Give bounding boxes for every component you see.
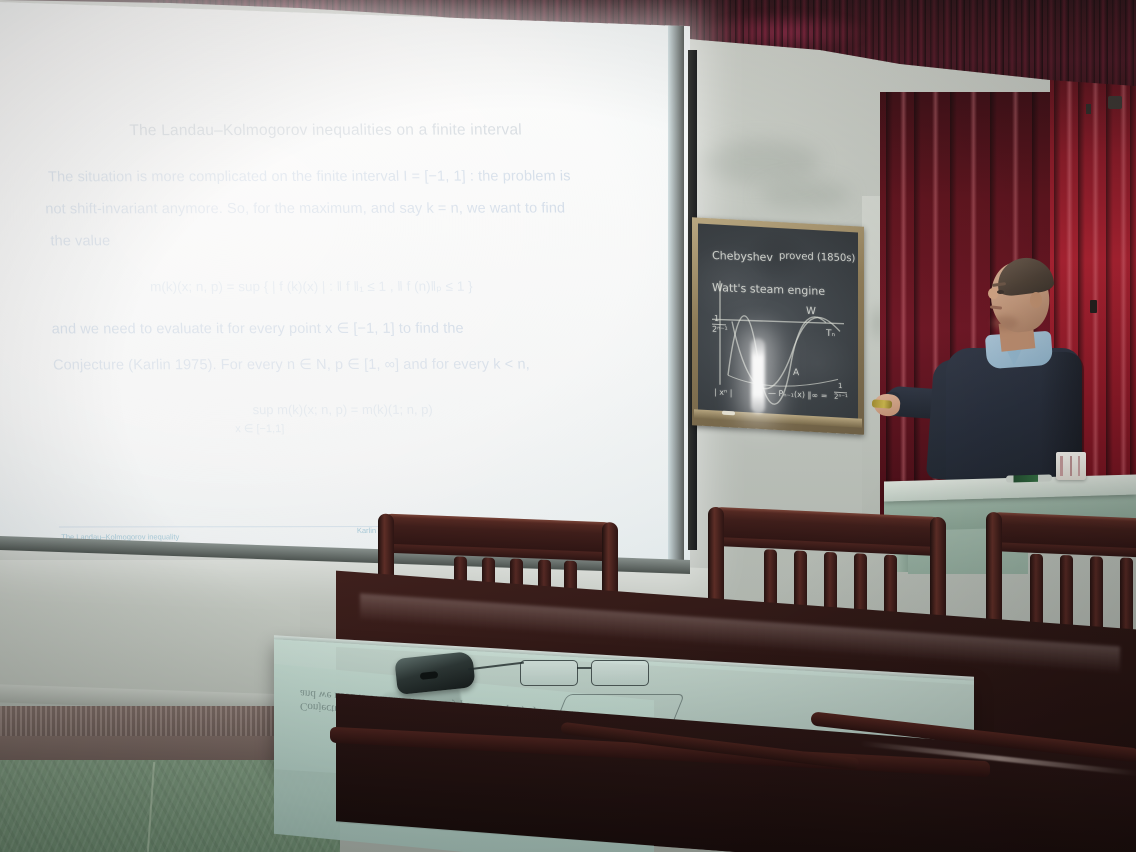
cup-stripe [1078,456,1080,476]
lecture-hall-photo: The Landau–Kolmogorov inequalities on a … [0,0,1136,852]
cup-stripe [1060,456,1063,476]
laser-pointer [872,399,893,408]
speaker-chin-shadow [992,316,1018,330]
eyeglasses-lens-left [520,660,578,686]
cup-stripe [1070,456,1072,476]
chair-spindle [1060,555,1073,631]
speaker-mouth [990,305,1002,309]
chair-spindle [1030,554,1043,630]
eyeglasses-lens-right [591,660,649,686]
speaker-nose [988,288,998,299]
chair-spindle [1120,557,1133,633]
speaker-ear [1030,292,1042,308]
eyeglasses-bridge [577,667,591,669]
stage-edge-texture [0,706,300,736]
green-marker [1006,474,1052,482]
speaker-eye [997,290,1004,294]
chair-spindle [1090,556,1103,632]
